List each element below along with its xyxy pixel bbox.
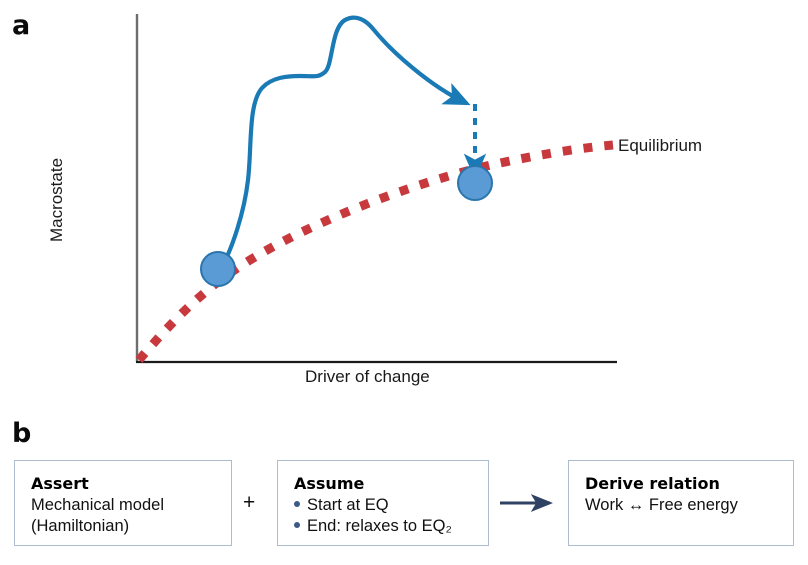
assume-bullet-2-text: End: relaxes to EQ₂ bbox=[307, 516, 452, 537]
panel-a: a Driver of change Macrostate Equilibriu… bbox=[0, 0, 808, 410]
derive-box-title: Derive relation bbox=[585, 474, 777, 494]
assume-box-title: Assume bbox=[294, 474, 472, 494]
bullet-dot-icon bbox=[294, 522, 300, 528]
derive-box: Derive relation Work ↔ Free energy bbox=[568, 460, 794, 546]
bullet-dot-icon bbox=[294, 501, 300, 507]
panel-b: b Assert Mechanical model (Hamiltonian) … bbox=[0, 410, 808, 565]
x-axis-label: Driver of change bbox=[305, 367, 430, 387]
assert-box-title: Assert bbox=[31, 474, 215, 494]
assert-box-line-2: (Hamiltonian) bbox=[31, 516, 215, 537]
macrostate-chart bbox=[0, 0, 808, 410]
start-marker bbox=[201, 252, 235, 286]
assert-box: Assert Mechanical model (Hamiltonian) bbox=[14, 460, 232, 546]
equilibrium-curve bbox=[139, 145, 613, 360]
equilibrium-curve-label: Equilibrium bbox=[618, 136, 702, 156]
assume-bullet-1: Start at EQ bbox=[294, 495, 472, 516]
trajectory-curve bbox=[222, 18, 466, 267]
y-axis-label: Macrostate bbox=[47, 110, 67, 290]
end-marker bbox=[458, 166, 492, 200]
assume-bullet-2: End: relaxes to EQ₂ bbox=[294, 516, 472, 537]
assume-bullet-1-text: Start at EQ bbox=[307, 495, 389, 516]
flow-arrow bbox=[498, 493, 562, 513]
assert-box-line-1: Mechanical model bbox=[31, 495, 215, 516]
plus-operator: + bbox=[243, 491, 255, 515]
assume-box: Assume Start at EQ End: relaxes to EQ₂ bbox=[277, 460, 489, 546]
derive-box-line-1: Work ↔ Free energy bbox=[585, 495, 777, 516]
panel-b-letter: b bbox=[12, 420, 31, 447]
